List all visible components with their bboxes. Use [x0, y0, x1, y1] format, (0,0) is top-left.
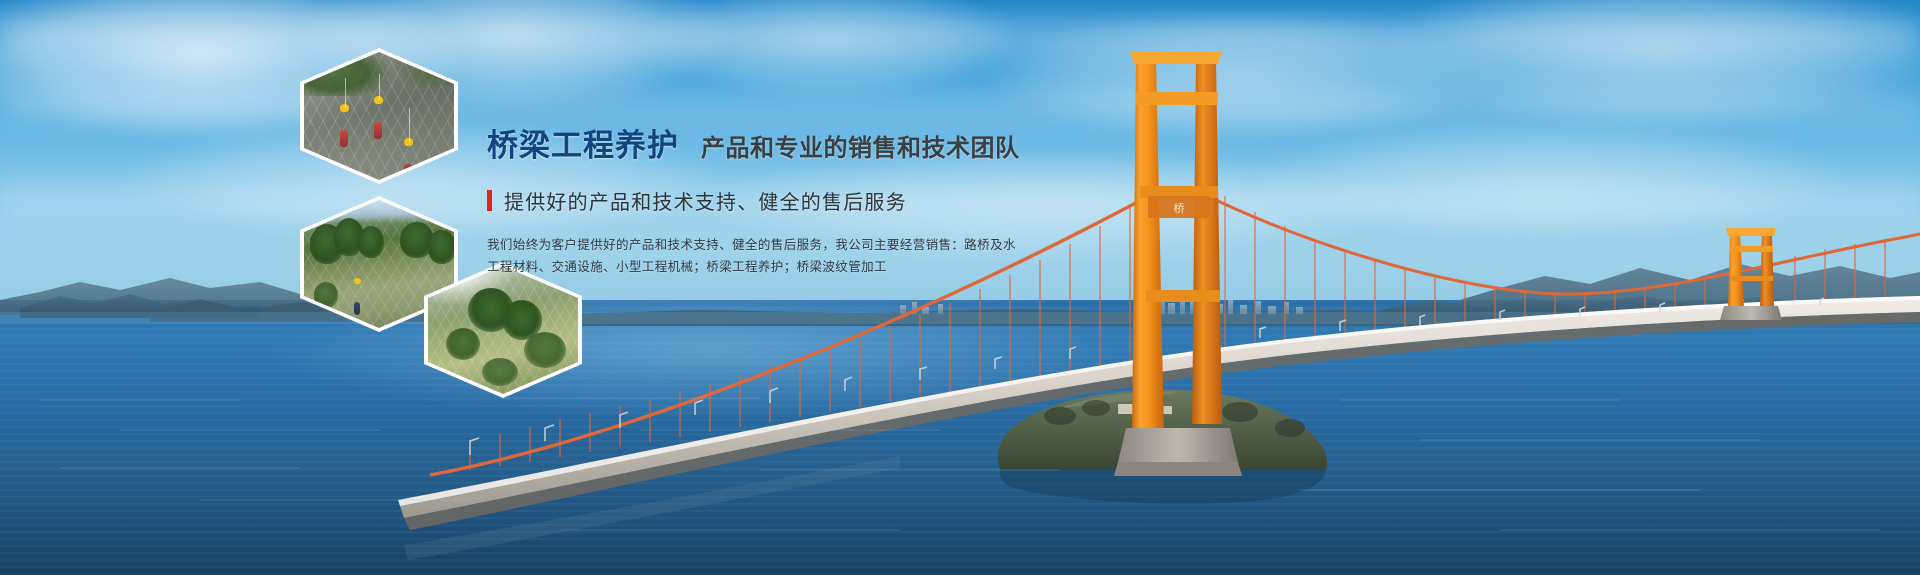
- subheadline-text: 提供好的产品和技术支持、健全的售后服务: [504, 186, 907, 215]
- body-line-1: 我们始终为客户提供好的产品和技术支持、健全的售后服务，我公司主要经营销售：路桥及…: [487, 234, 1247, 256]
- tree-3: [358, 226, 384, 258]
- photo-vegetation-left: [304, 52, 390, 96]
- bush-5: [482, 358, 518, 386]
- tree-5: [428, 230, 454, 264]
- banner-headline: 桥梁工程养护 产品和专业的销售和技术团队: [487, 120, 1247, 165]
- banner-body: 我们始终为客户提供好的产品和技术支持、健全的售后服务，我公司主要经营销售：路桥及…: [487, 234, 1247, 278]
- headline-main-text: 桥梁工程养护: [487, 120, 679, 165]
- bush-3: [446, 328, 480, 360]
- body-line-2: 工程材料、交通设施、小型工程机械；桥梁工程养护；桥梁波纹管加工: [487, 256, 1247, 278]
- accent-bar: [487, 190, 492, 211]
- suspension-bridge: 桥: [0, 0, 1920, 575]
- hero-banner: 桥: [0, 0, 1920, 575]
- headline-secondary-text: 产品和专业的销售和技术团队: [701, 128, 1020, 163]
- bush-4: [524, 332, 566, 368]
- banner-subheadline: 提供好的产品和技术支持、健全的售后服务: [487, 186, 1247, 215]
- hex-photo-rock-slope-netting: [300, 48, 458, 184]
- banner-copy: 桥梁工程养护 产品和专业的销售和技术团队 提供好的产品和技术支持、健全的售后服务…: [487, 120, 1247, 278]
- hex-photo-vegetated-slope: [424, 262, 582, 398]
